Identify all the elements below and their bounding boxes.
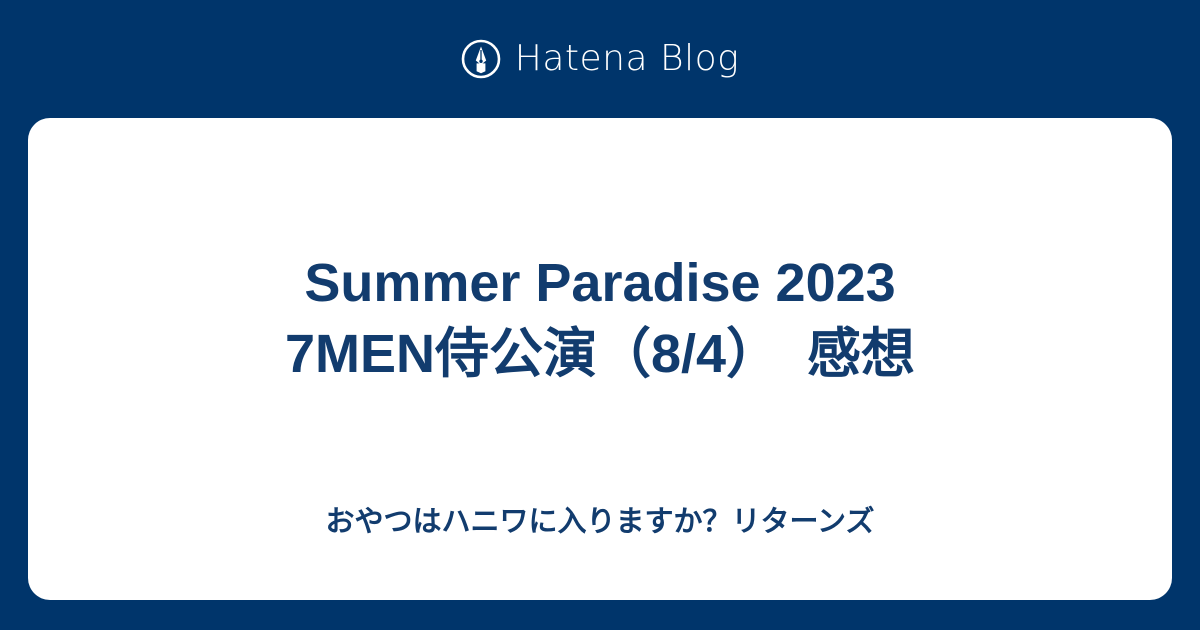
blog-subtitle: おやつはハニワに入りますか？リターンズ bbox=[150, 504, 1050, 542]
entry-title: Summer Paradise 2023 7MEN侍公演（8/4） 感想 bbox=[240, 248, 960, 391]
content-card: Summer Paradise 2023 7MEN侍公演（8/4） 感想 おやつ… bbox=[28, 118, 1172, 600]
brand-header: Hatena Blog bbox=[0, 0, 1200, 118]
og-image-card: Hatena Blog Summer Paradise 2023 7MEN侍公演… bbox=[0, 0, 1200, 630]
pen-nib-circle-icon bbox=[461, 39, 501, 79]
brand-name: Hatena Blog bbox=[515, 41, 739, 77]
